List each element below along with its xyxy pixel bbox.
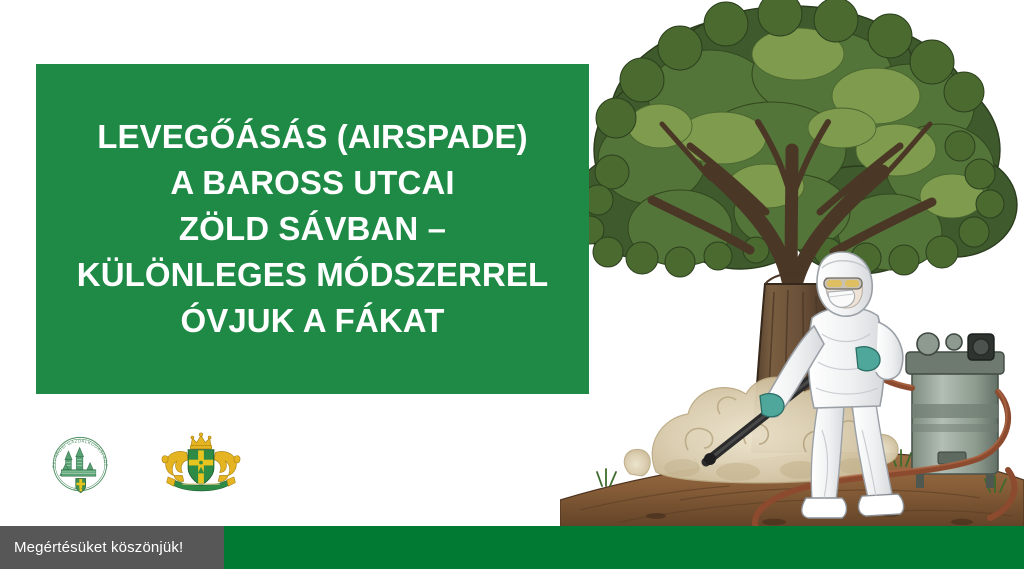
- bottom-bar-gray-segment: Megértésüket köszönjük!: [0, 526, 224, 569]
- thank-you-message: Megértésüket köszönjük!: [14, 539, 183, 556]
- logo-row: JÓZSEFVÁROSI GAZDÁLKODÁSI KÖZPONT ZRT.: [44, 424, 264, 504]
- headline-line-1: LEVEGŐÁSÁS (AIRSPADE): [97, 114, 528, 160]
- safety-goggles: [824, 278, 862, 289]
- gazdalkodasi-kozpont-logo: JÓZSEFVÁROSI GAZDÁLKODÁSI KÖZPONT ZRT.: [44, 428, 116, 500]
- headline-line-5: ÓVJUK A FÁKAT: [180, 298, 444, 344]
- headline-line-4: KÜLÖNLEGES MÓDSZERREL: [77, 252, 548, 298]
- bottom-bar: Megértésüket köszönjük!: [0, 526, 1024, 569]
- headline-line-3: ZÖLD SÁVBAN –: [179, 206, 446, 252]
- headline-line-2: A BAROSS UTCAI: [170, 160, 454, 206]
- airspade-illustration: [560, 0, 1024, 532]
- bottom-bar-green-segment: [224, 526, 1024, 569]
- jozsefvaros-coat-of-arms-logo: [158, 431, 244, 497]
- heraldic-shield: [188, 450, 214, 486]
- poster-canvas: LEVEGŐÁSÁS (AIRSPADE) A BAROSS UTCAI ZÖL…: [0, 0, 1024, 569]
- headline-panel: LEVEGŐÁSÁS (AIRSPADE) A BAROSS UTCAI ZÖL…: [36, 64, 589, 394]
- crown-icon: [190, 433, 212, 449]
